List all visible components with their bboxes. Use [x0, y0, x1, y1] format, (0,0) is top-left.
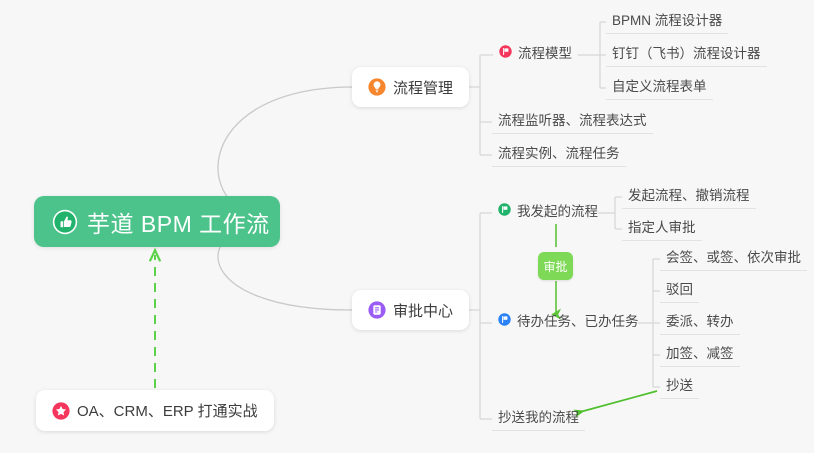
mindmap-canvas: 芋道 BPM 工作流 流程管理 审批中心	[0, 0, 814, 453]
branch-node-approval-center[interactable]: 审批中心	[352, 290, 469, 330]
node-assignee-approval[interactable]: 指定人审批	[622, 215, 702, 241]
node-label: BPMN 流程设计器	[612, 9, 722, 29]
node-label: 抄送	[666, 374, 693, 394]
node-cc-to-me-process[interactable]: 抄送我的流程	[492, 405, 585, 431]
node-dingtalk-designer[interactable]: 钉钉（飞书）流程设计器	[606, 41, 767, 67]
node-label: 委派、转办	[666, 310, 734, 330]
node-process-instance-task[interactable]: 流程实例、流程任务	[492, 141, 626, 167]
branch-label: 审批中心	[393, 300, 453, 321]
star-icon	[52, 402, 70, 420]
flag-icon	[498, 313, 511, 326]
node-bpmn-designer[interactable]: BPMN 流程设计器	[606, 8, 728, 34]
root-node[interactable]: 芋道 BPM 工作流	[34, 196, 280, 247]
node-label: 驳回	[666, 278, 693, 298]
node-process-model[interactable]: 流程模型	[493, 41, 578, 67]
node-process-listener-expression[interactable]: 流程监听器、流程表达式	[492, 108, 653, 134]
node-my-started-process[interactable]: 我发起的流程	[492, 199, 604, 225]
lightbulb-pin-icon	[368, 78, 386, 96]
node-label: 会签、或签、依次审批	[666, 246, 801, 266]
footer-label: OA、CRM、ERP 打通实战	[77, 400, 258, 421]
approval-badge: 审批	[538, 252, 573, 280]
note-icon	[368, 301, 386, 319]
node-label: 钉钉（飞书）流程设计器	[612, 42, 761, 62]
node-label: 指定人审批	[628, 216, 696, 236]
node-countersign-modes[interactable]: 会签、或签、依次审批	[660, 245, 807, 271]
node-label: 自定义流程表单	[612, 75, 707, 95]
root-label: 芋道 BPM 工作流	[87, 205, 270, 239]
node-label: 待办任务、已办任务	[517, 310, 639, 330]
approval-badge-label: 审批	[543, 258, 567, 275]
node-label: 流程模型	[518, 42, 572, 62]
flag-icon	[498, 203, 511, 216]
node-start-cancel-process[interactable]: 发起流程、撤销流程	[622, 183, 756, 209]
node-label: 流程监听器、流程表达式	[498, 109, 647, 129]
node-label: 加签、减签	[666, 342, 734, 362]
node-label: 抄送我的流程	[498, 406, 579, 426]
node-label: 我发起的流程	[517, 200, 598, 220]
branch-node-process-management[interactable]: 流程管理	[352, 67, 469, 107]
node-label: 流程实例、流程任务	[498, 142, 620, 162]
node-reject[interactable]: 驳回	[660, 277, 699, 303]
node-add-remove-sign[interactable]: 加签、减签	[660, 341, 740, 367]
arrow-cc-to-cc-my-process	[580, 391, 657, 412]
node-label: 发起流程、撤销流程	[628, 184, 750, 204]
node-todo-done-tasks[interactable]: 待办任务、已办任务	[492, 309, 645, 335]
node-cc[interactable]: 抄送	[660, 373, 699, 399]
node-custom-process-form[interactable]: 自定义流程表单	[606, 74, 713, 100]
thumbs-up-icon	[52, 209, 78, 235]
node-delegate-transfer[interactable]: 委派、转办	[660, 309, 740, 335]
branch-label: 流程管理	[393, 77, 453, 98]
footer-node-integration[interactable]: OA、CRM、ERP 打通实战	[36, 390, 274, 431]
flag-icon	[499, 45, 512, 58]
